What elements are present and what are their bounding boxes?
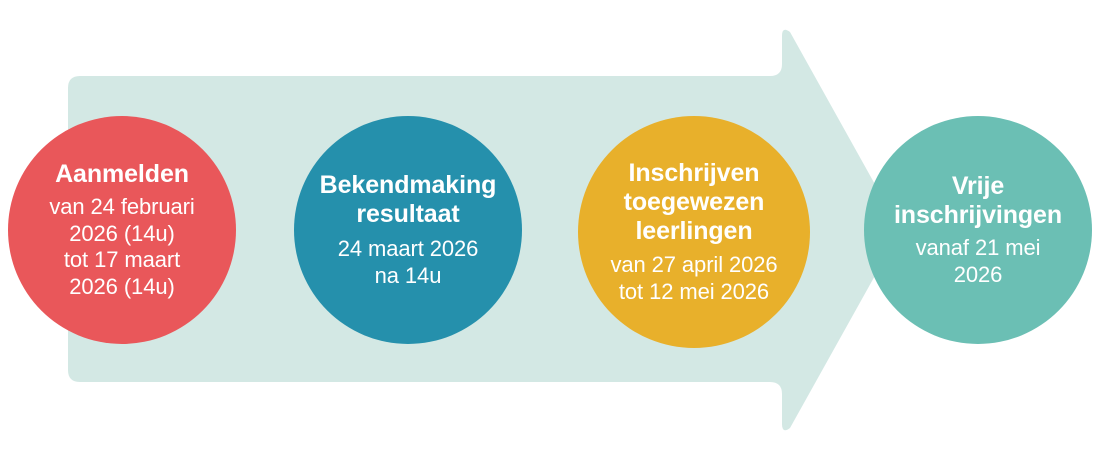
stage-circle-bekendmaking-resultaat: Bekendmaking resultaat 24 maart 2026 na … xyxy=(294,116,522,344)
enrollment-timeline-diagram: Aanmelden van 24 februari 2026 (14u) tot… xyxy=(0,0,1096,459)
stage-title-bekendmaking-resultaat: Bekendmaking resultaat xyxy=(320,171,497,230)
stage-title-aanmelden: Aanmelden xyxy=(55,160,189,189)
stage-title-inschrijven-toegewezen-leerlingen: Inschrijven toegewezen leerlingen xyxy=(624,159,765,247)
stage-detail-vrije-inschrijvingen: vanaf 21 mei 2026 xyxy=(916,235,1041,288)
stage-circle-inschrijven-toegewezen-leerlingen: Inschrijven toegewezen leerlingen van 27… xyxy=(578,116,810,348)
stage-circle-vrije-inschrijvingen: Vrije inschrijvingen vanaf 21 mei 2026 xyxy=(864,116,1092,344)
stage-circle-aanmelden: Aanmelden van 24 februari 2026 (14u) tot… xyxy=(8,116,236,344)
stage-detail-bekendmaking-resultaat: 24 maart 2026 na 14u xyxy=(338,236,479,289)
stage-detail-aanmelden: van 24 februari 2026 (14u) tot 17 maart … xyxy=(49,194,194,300)
stage-detail-inschrijven-toegewezen-leerlingen: van 27 april 2026 tot 12 mei 2026 xyxy=(610,252,777,305)
stage-title-vrije-inschrijvingen: Vrije inschrijvingen xyxy=(894,172,1062,231)
